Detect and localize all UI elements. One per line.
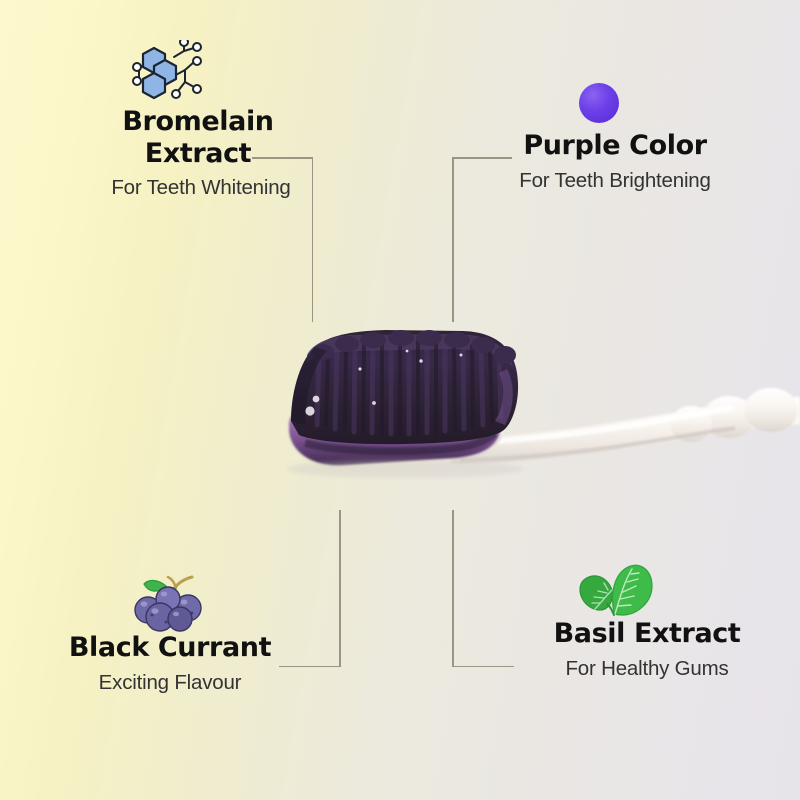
toothbrush-bristles (291, 330, 518, 444)
purple-dot-icon-wrap (495, 82, 735, 130)
connector-basil-horizontal (452, 666, 514, 668)
leaves-icon (574, 560, 664, 618)
basil-leaf-right (613, 565, 652, 615)
callout-basil-extract: Basil Extract For Healthy Gums (522, 560, 772, 681)
callout-purple-color: Purple Color For Teeth Brightening (495, 82, 735, 193)
callout-basil-extract-subtitle: For Healthy Gums (522, 657, 772, 682)
callout-purple-color-subtitle: For Teeth Brightening (495, 169, 735, 194)
berries-icon-wrap (40, 570, 300, 632)
callout-bromelain-title: BromelainExtract (75, 106, 335, 169)
toothbrush-image (255, 325, 800, 500)
ingredient-infographic: BromelainExtract For Teeth Whitening Pur… (0, 0, 800, 800)
callout-basil-extract-title: Basil Extract (522, 618, 772, 650)
callout-black-currant-subtitle: Exciting Flavour (40, 671, 300, 696)
connector-currant-vertical (339, 510, 341, 667)
callout-bromelain: BromelainExtract For Teeth Whitening (75, 40, 335, 201)
callout-purple-color-title: Purple Color (495, 130, 735, 162)
leaves-icon-wrap (522, 560, 772, 618)
molecule-icon-wrap (75, 40, 335, 106)
connector-basil-vertical (452, 510, 454, 667)
berries-icon (130, 570, 212, 632)
toothbrush-shadow (287, 460, 523, 478)
connector-purple-vertical (452, 157, 454, 322)
molecule-icon (130, 40, 218, 106)
callout-black-currant: Black Currant Exciting Flavour (40, 570, 300, 695)
callout-black-currant-title: Black Currant (40, 632, 300, 664)
callout-bromelain-subtitle: For Teeth Whitening (75, 176, 335, 201)
purple-dot-icon (577, 82, 621, 126)
